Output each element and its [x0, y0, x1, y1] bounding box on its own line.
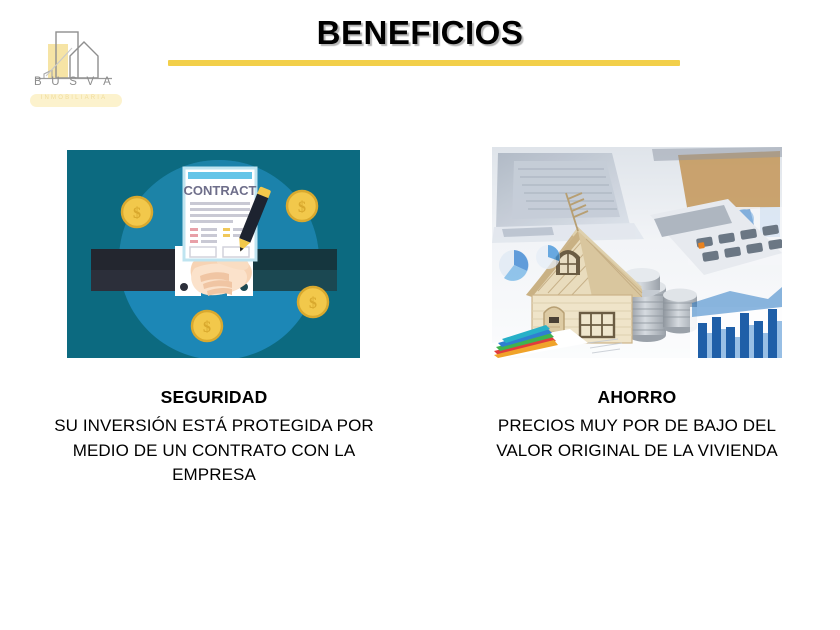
benefit-line: SU INVERSIÓN ESTÁ PROTEGIDA POR: [40, 414, 388, 439]
handshake-contract-illustration: CONTRACT: [67, 150, 360, 358]
house-model-coins-graphic: [492, 147, 782, 358]
benefit-line: MEDIO DE UN CONTRATO CON LA: [40, 439, 388, 464]
benefit-description-ahorro: PRECIOS MUY POR DE BAJO DEL VALOR ORIGIN…: [462, 414, 812, 463]
slide-canvas: B U S V A INMOBILIARIA BENEFICIOS: [0, 0, 840, 630]
benefit-line: EMPRESA: [40, 463, 388, 488]
svg-text:$: $: [309, 295, 317, 312]
svg-text:$: $: [298, 199, 306, 216]
logo-tagline: INMOBILIARIA: [26, 95, 122, 101]
benefit-line: VALOR ORIGINAL DE LA VIVIENDA: [462, 439, 812, 464]
benefit-card-ahorro: AHORRO PRECIOS MUY POR DE BAJO DEL VALOR…: [462, 147, 812, 463]
benefit-line: PRECIOS MUY POR DE BAJO DEL: [462, 414, 812, 439]
benefit-heading-ahorro: AHORRO: [462, 387, 812, 409]
benefit-heading-seguridad: SEGURIDAD: [40, 387, 388, 409]
house-model-coins-photo: [492, 147, 782, 358]
benefit-description-seguridad: SU INVERSIÓN ESTÁ PROTEGIDA POR MEDIO DE…: [40, 414, 388, 488]
logo-wordmark: B U S V A: [26, 76, 122, 88]
handshake-contract-graphic: CONTRACT: [67, 150, 360, 358]
contract-label: CONTRACT: [184, 183, 257, 198]
svg-text:$: $: [133, 205, 141, 222]
svg-text:$: $: [203, 319, 211, 336]
title-underline-rule: [168, 60, 680, 66]
benefit-card-seguridad: CONTRACT: [40, 147, 388, 488]
slide-title: BENEFICIOS: [0, 14, 840, 52]
